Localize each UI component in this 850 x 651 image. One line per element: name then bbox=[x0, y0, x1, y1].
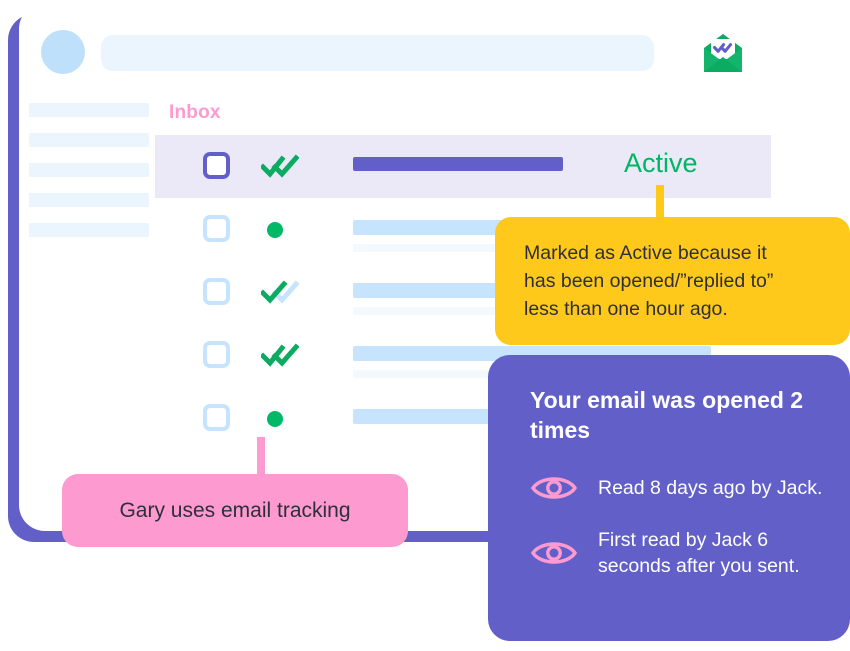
sidebar-item-4[interactable] bbox=[29, 193, 149, 207]
eye-icon bbox=[530, 471, 578, 505]
double-check-read-icon bbox=[261, 152, 299, 180]
status-badge: Active bbox=[624, 148, 698, 179]
row-checkbox[interactable] bbox=[203, 278, 230, 305]
double-check-read-icon bbox=[261, 341, 299, 369]
tooltip-line-1: Marked as Active because it bbox=[524, 239, 824, 267]
email-tracking-card: Your email was opened 2 times Read 8 day… bbox=[488, 355, 850, 641]
list-item: Read 8 days ago by Jack. bbox=[530, 471, 824, 505]
tracking-event-text: Read 8 days ago by Jack. bbox=[598, 475, 822, 501]
inbox-title: Inbox bbox=[169, 102, 221, 124]
card-heading: Your email was opened 2 times bbox=[530, 385, 824, 445]
row-subject-bar bbox=[353, 157, 563, 171]
read-mail-icon bbox=[700, 32, 746, 74]
sidebar-item-3[interactable] bbox=[29, 163, 149, 177]
email-tracking-tooltip: Gary uses email tracking bbox=[62, 474, 408, 547]
row-checkbox[interactable] bbox=[203, 404, 230, 431]
sidebar-item-2[interactable] bbox=[29, 133, 149, 147]
row-checkbox[interactable] bbox=[203, 341, 230, 368]
row-checkbox[interactable] bbox=[203, 152, 230, 179]
eye-icon bbox=[530, 536, 578, 570]
tooltip-text: Gary uses email tracking bbox=[119, 499, 350, 523]
avatar[interactable] bbox=[41, 30, 85, 74]
window-topbar bbox=[19, 3, 771, 91]
tracking-event-text: First read by Jack 6 seconds after you s… bbox=[598, 527, 824, 579]
dot-unread-icon bbox=[267, 411, 283, 427]
active-explanation-tooltip: Marked as Active because it has been ope… bbox=[495, 217, 850, 345]
dot-unread-icon bbox=[267, 222, 283, 238]
sidebar-item-1[interactable] bbox=[29, 103, 149, 117]
sidebar-item-5[interactable] bbox=[29, 223, 149, 237]
search-input[interactable] bbox=[101, 35, 654, 71]
double-check-half-icon bbox=[261, 278, 299, 306]
tooltip-line-3: less than one hour ago. bbox=[524, 295, 824, 323]
sidebar-nav bbox=[29, 103, 149, 253]
row-checkbox[interactable] bbox=[203, 215, 230, 242]
screenshot-stage: Inbox bbox=[0, 0, 850, 651]
list-item: First read by Jack 6 seconds after you s… bbox=[530, 527, 824, 579]
tooltip-line-2: has been opened/”replied to” bbox=[524, 267, 824, 295]
